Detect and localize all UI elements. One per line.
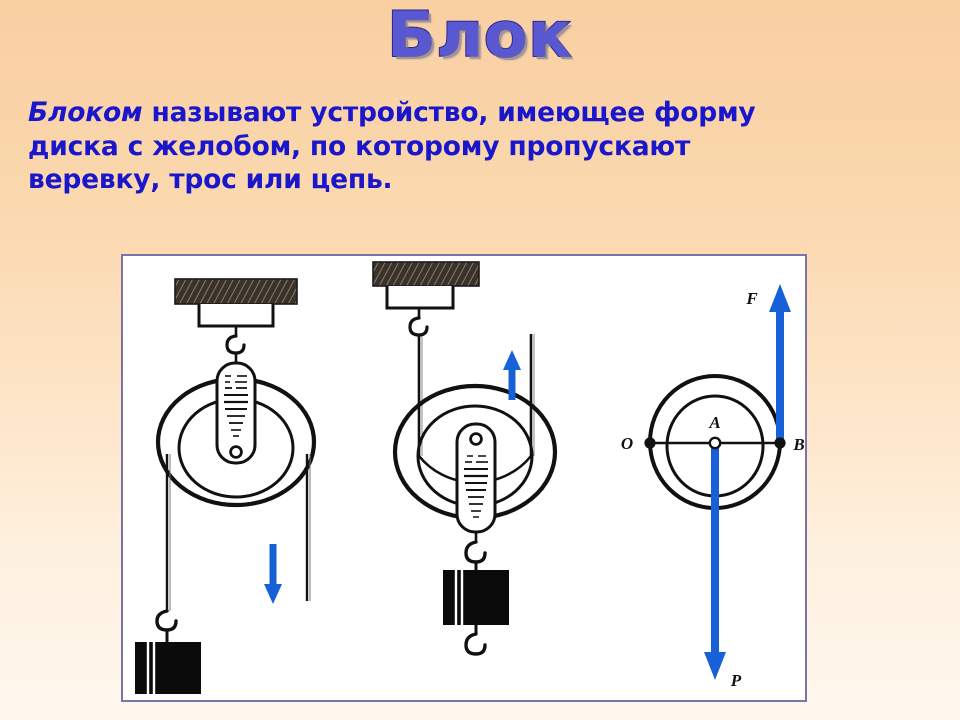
pulley-figure-frame: O B A F P	[121, 254, 807, 702]
ceiling-bracket-icon	[175, 279, 297, 304]
page-title: Блок	[388, 4, 573, 66]
label-a: A	[708, 413, 720, 432]
label-f: F	[745, 289, 758, 308]
pulley-diagram-svg: O B A F P	[123, 256, 805, 700]
weight-block-fixed	[135, 642, 201, 694]
definition-paragraph: Блоком называют устройство, имеющее форм…	[28, 96, 934, 197]
slide-canvas: Блок Блоком называют устройство, имеющее…	[0, 0, 960, 720]
definition-emphasis: Блоком	[28, 97, 142, 128]
weight-block-movable	[443, 570, 509, 625]
label-b: B	[792, 435, 804, 454]
ceiling-bracket-icon-2	[373, 262, 479, 286]
label-o: O	[621, 434, 633, 453]
definition-line-2: диска с желобом, по которому пропускают	[28, 131, 690, 162]
spring-scale-movable	[457, 424, 495, 532]
point-a	[710, 438, 720, 448]
title-container: Блок	[0, 4, 960, 66]
definition-line-3: веревку, трос или цепь.	[28, 164, 392, 195]
spring-scale-fixed	[217, 363, 255, 463]
label-p: P	[730, 671, 742, 690]
point-b	[774, 437, 785, 448]
point-o	[644, 437, 655, 448]
mount-plate	[199, 304, 273, 326]
definition-line-1: называют устройство, имеющее форму	[142, 97, 755, 128]
mount-plate-2	[387, 286, 453, 308]
